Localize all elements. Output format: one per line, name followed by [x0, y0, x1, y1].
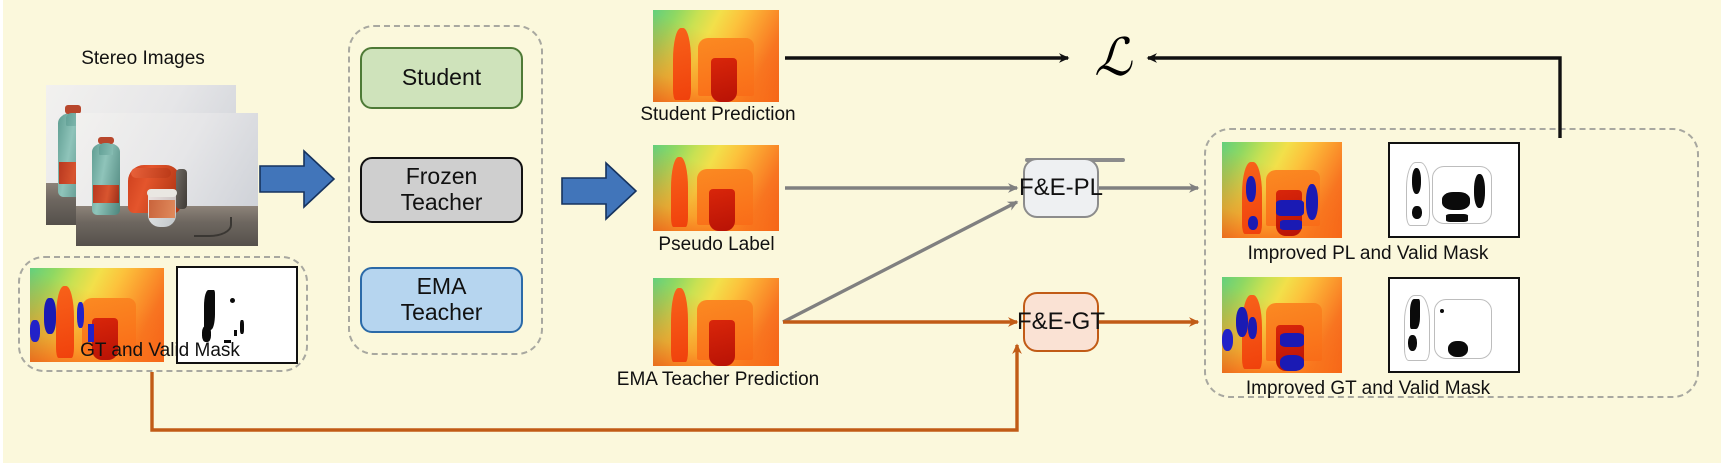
photo-jar: [148, 189, 176, 227]
dmap-invalid-region: [30, 320, 40, 342]
process-fe-pl-label: F&E-PL: [1019, 174, 1103, 202]
figure-canvas: Stereo Images: [0, 0, 1724, 463]
improved-gt-valid-mask: [1388, 277, 1520, 373]
dmap-bottle: [671, 288, 688, 362]
student-prediction-label: Student Prediction: [628, 104, 808, 126]
dmap-invalid-region: [1280, 355, 1304, 371]
ema-teacher-prediction-map: [653, 278, 779, 366]
dmap-invalid-region: [1280, 333, 1304, 347]
improved-gt-map: [1222, 277, 1342, 373]
improved-pl-and-valid-mask-label: Improved PL and Valid Mask: [1218, 243, 1518, 265]
gt-and-valid-mask-label: GT and Valid Mask: [60, 340, 260, 362]
ema-teacher-prediction-label: EMA Teacher Prediction: [604, 369, 832, 391]
stereo-images-label: Stereo Images: [68, 48, 218, 70]
mask-blob: [1446, 214, 1468, 222]
model-frozen-label-line2: Teacher: [401, 190, 483, 216]
dmap-invalid-region: [44, 298, 56, 334]
pseudo-label-label: Pseudo Label: [654, 234, 779, 256]
dmap-invalid-region: [1248, 216, 1258, 230]
mask-blob: [230, 298, 235, 303]
dmap-invalid-region: [1306, 184, 1318, 220]
dmap-jar: [711, 58, 737, 102]
mask-blob: [1440, 309, 1444, 313]
model-ema-label-line2: Teacher: [401, 300, 483, 326]
photo-bottle-neck: [99, 143, 112, 155]
dmap-bottle: [671, 157, 688, 227]
process-box-fe-gt[interactable]: F&E-GT: [1023, 292, 1099, 352]
mask-blob: [1410, 299, 1420, 329]
mask-blob: [1412, 168, 1421, 194]
mask-blob: [1412, 206, 1422, 219]
loss-symbol: ℒ: [1085, 30, 1141, 88]
photo-bottle-label: [93, 185, 120, 204]
dmap-invalid-region: [1236, 307, 1248, 337]
dmap-invalid-region: [77, 302, 84, 328]
photo-bottle: [92, 143, 120, 215]
input-to-models-arrow: [258, 148, 336, 210]
improved-pl-map: [1222, 142, 1342, 238]
pseudo-label-map: [653, 145, 779, 231]
student-prediction-map: [653, 10, 779, 102]
dmap-invalid-region: [1276, 200, 1304, 216]
dmap-jar: [709, 189, 735, 231]
jar-lid: [147, 189, 177, 197]
models-to-predictions-arrow: [560, 160, 638, 222]
mask-blob: [240, 320, 244, 334]
dmap-invalid-region: [1248, 317, 1257, 339]
mask-blob: [1408, 335, 1417, 351]
model-box-frozen-teacher[interactable]: Frozen Teacher: [360, 157, 523, 223]
stereo-image-right: [76, 113, 258, 246]
dmap-jar: [709, 320, 735, 366]
mask-blob: [1474, 174, 1485, 208]
arrow-improved-pl-to-loss: [1148, 58, 1560, 138]
mask-blob: [1448, 341, 1468, 357]
improved-pl-valid-mask: [1388, 142, 1520, 238]
improved-gt-and-valid-mask-label: Improved GT and Valid Mask: [1218, 378, 1518, 400]
dmap-bottle: [673, 28, 691, 100]
dmap-invalid-region: [1222, 329, 1233, 351]
mask-blob: [234, 330, 237, 336]
model-box-student[interactable]: Student: [360, 47, 523, 109]
machine-top: [131, 168, 171, 179]
model-student-label: Student: [402, 65, 481, 91]
jar-liquid: [149, 200, 175, 217]
model-frozen-label-line1: Frozen: [406, 164, 478, 190]
process-fe-gt-label: F&E-GT: [1017, 308, 1105, 336]
machine-side-panel: [176, 169, 187, 209]
mask-blob: [204, 290, 215, 330]
dmap-invalid-region: [1246, 176, 1256, 202]
model-ema-label-line1: EMA: [417, 274, 467, 300]
arrow-ema-prediction-to-fe-pl: [783, 202, 1017, 322]
mask-blob: [1442, 192, 1470, 210]
dmap-invalid-region: [1280, 220, 1302, 230]
model-box-ema-teacher[interactable]: EMA Teacher: [360, 267, 523, 333]
process-box-fe-pl-main[interactable]: F&E-PL: [1023, 158, 1099, 218]
